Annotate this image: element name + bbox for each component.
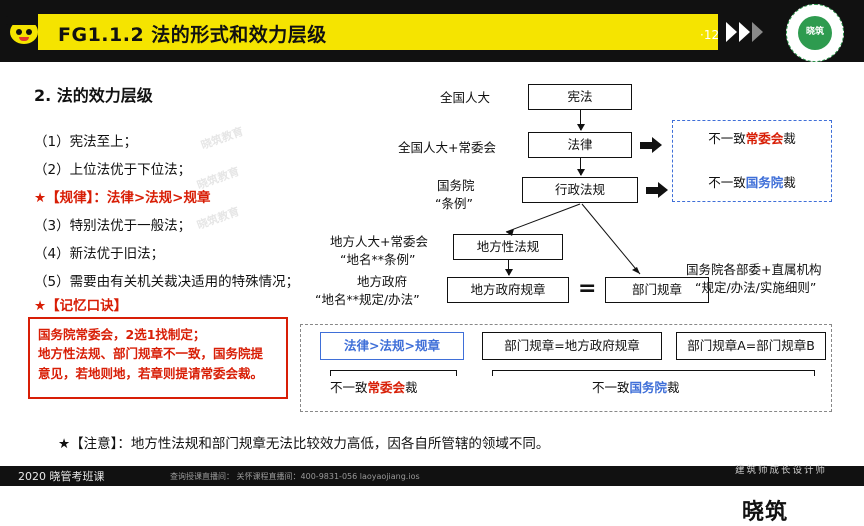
arrow-constitution-to-law bbox=[580, 110, 581, 130]
page-title: FG1.1.2 法的形式和效力层级 bbox=[58, 20, 327, 47]
label-npc: 全国人大 bbox=[440, 90, 490, 106]
brand-name: 晓筑 bbox=[742, 494, 788, 526]
bullet-1: （1）宪法至上； bbox=[34, 130, 137, 150]
label-local-gov-sub: “地名**规定/办法” bbox=[315, 292, 420, 308]
bullet-3: （3）特别法优于一般法； bbox=[34, 214, 191, 234]
header-bar: FG1.1.2 法的形式和效力层级 ·12 晓筑 bbox=[0, 0, 864, 62]
page-number: ·12 bbox=[700, 28, 719, 42]
brace-right-tick-a bbox=[492, 370, 493, 376]
mnemonic-line-3: 意见，若地则地，若章则提请常委会裁。 bbox=[38, 364, 278, 383]
logo-badge: 晓筑 bbox=[786, 4, 844, 62]
mnemonic-red-box: 国务院常委会，2选1找制定； 地方性法规、部门规章不一致，国务院提 意见，若地则… bbox=[28, 317, 288, 399]
label-local-gov: 地方政府 bbox=[357, 274, 407, 290]
connector-admin-to-locals bbox=[440, 202, 660, 282]
bullet-rule: ★【规律】：法律>法规>规章 bbox=[34, 186, 210, 206]
bullet-2: （2）上位法优于下位法； bbox=[34, 158, 191, 178]
arrow-law-to-admin bbox=[580, 158, 581, 175]
footer-left-text: 2020 晓管考班课 bbox=[18, 468, 105, 484]
summary-box-1: 法律>法规>规章 bbox=[320, 332, 464, 360]
summary-box-2: 部门规章=地方政府规章 bbox=[482, 332, 662, 360]
arrow-localreg-to-localgovrule bbox=[508, 260, 509, 275]
slide-body: 2. 法的效力层级 （1）宪法至上； （2）上位法优于下位法； ★【规律】：法律… bbox=[0, 62, 864, 486]
footer-mid-text: 查询授课直播间： 关怀课程直播间：400-9831-056 laoyaojian… bbox=[170, 471, 420, 482]
watermark-3: 晓筑教育 bbox=[195, 203, 242, 233]
bullet-4: （4）新法优于旧法； bbox=[34, 242, 164, 262]
chevron-right-icon bbox=[726, 22, 763, 42]
mnemonic-line-1: 国务院常委会，2选1找制定； bbox=[38, 325, 278, 344]
right-note-1: 不一致常委会裁 bbox=[676, 126, 828, 152]
right-note-2: 不一致国务院裁 bbox=[676, 170, 828, 196]
summary-box-3: 部门规章A=部门规章B bbox=[676, 332, 826, 360]
mnemonic-line-2: 地方性法规、部门规章不一致，国务院提 bbox=[38, 344, 278, 363]
fat-arrow-law-note bbox=[640, 137, 662, 153]
label-local-npc: 地方人大+常委会 bbox=[330, 234, 428, 250]
label-state-council: 国务院 bbox=[437, 178, 475, 194]
summary-note-2: 不一致国务院裁 bbox=[592, 380, 680, 396]
summary-note-1: 不一致常委会裁 bbox=[330, 380, 418, 396]
bullet-5: （5）需要由有关机关裁决适用的特殊情况； bbox=[34, 270, 299, 290]
brand-subtitle: 建筑师成长设计师 bbox=[735, 462, 827, 476]
watermark-1: 晓筑教育 bbox=[199, 123, 246, 153]
brace-left bbox=[330, 370, 456, 371]
label-local-npc-sub: “地名**条例” bbox=[340, 252, 415, 268]
bullet-mnemonic: ★【记忆口诀】 bbox=[34, 294, 127, 314]
logo-label: 晓筑 bbox=[798, 16, 832, 50]
label-dept-org-sub: “规定/办法/实施细则” bbox=[695, 280, 816, 296]
brace-right-tick-b bbox=[814, 370, 815, 376]
brace-right bbox=[492, 370, 814, 371]
footnote-caution: ★【注意】：地方性法规和部门规章无法比较效力高低，因各自所管辖的领域不同。 bbox=[58, 432, 549, 452]
label-dept-org: 国务院各部委+直属机构 bbox=[686, 262, 821, 278]
node-law: 法律 bbox=[528, 132, 632, 158]
node-constitution: 宪法 bbox=[528, 84, 632, 110]
label-npc-standing: 全国人大+常委会 bbox=[398, 140, 496, 156]
brace-left-tick-a bbox=[330, 370, 331, 376]
brace-left-tick-b bbox=[456, 370, 457, 376]
section-title: 2. 法的效力层级 bbox=[34, 82, 153, 106]
node-admin-regulation: 行政法规 bbox=[522, 177, 638, 203]
fat-arrow-admin-note bbox=[646, 182, 668, 198]
